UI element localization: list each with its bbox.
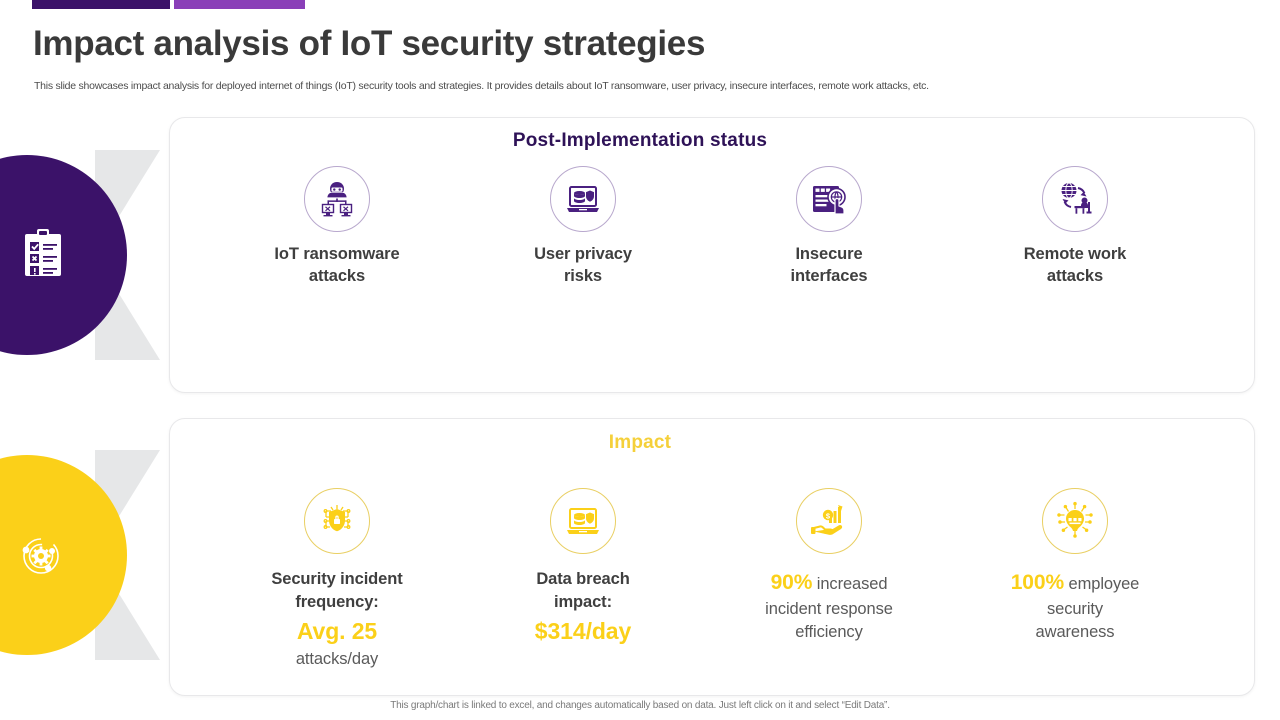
impact-item-response-efficiency: $ 90% increased incident response effici… <box>716 488 942 645</box>
gear-orbit-icon <box>15 530 67 582</box>
impact-heading: Impact <box>0 432 1280 454</box>
hacker-ransomware-icon <box>304 166 370 232</box>
impact-item-incident-frequency: Security incident frequency: Avg. 25 att… <box>224 488 450 671</box>
status-item-remote-work: Remote work attacks <box>965 166 1185 288</box>
clipboard-checklist-icon <box>17 228 69 280</box>
page-subtitle: This slide showcases impact analysis for… <box>34 80 1174 92</box>
impact-text: 100% employee security awareness <box>962 568 1188 645</box>
gauge-insecure-interfaces: 100% <box>719 300 939 384</box>
laptop-privacy-shield-icon <box>550 166 616 232</box>
accent-bar-secondary <box>174 0 305 9</box>
gauge-iot-ransomware: 75% <box>227 300 447 384</box>
data-breach-laptop-icon <box>550 488 616 554</box>
status-label: Remote work attacks <box>965 244 1185 288</box>
impact-text: Security incident frequency: Avg. 25 att… <box>224 568 450 671</box>
security-awareness-icon <box>1042 488 1108 554</box>
gauge-user-privacy: 95% <box>473 300 693 384</box>
shield-circuit-icon <box>304 488 370 554</box>
impact-text: Data breach impact: $314/day <box>470 568 696 648</box>
page-title: Impact analysis of IoT security strategi… <box>33 24 705 64</box>
post-implementation-heading: Post-Implementation status <box>0 130 1280 152</box>
status-item-iot-ransomware: IoT ransomware attacks <box>227 166 447 288</box>
status-label: User privacy risks <box>473 244 693 288</box>
impact-item-data-breach: Data breach impact: $314/day <box>470 488 696 648</box>
footer-note: This graph/chart is linked to excel, and… <box>0 700 1280 711</box>
impact-text: 90% increased incident response efficien… <box>716 568 942 645</box>
status-label: IoT ransomware attacks <box>227 244 447 288</box>
impact-item-security-awareness: 100% employee security awareness <box>962 488 1188 645</box>
accent-bar-primary <box>32 0 170 9</box>
remote-work-icon <box>1042 166 1108 232</box>
gauge-remote-work: XX% <box>965 300 1185 384</box>
status-item-user-privacy: User privacy risks <box>473 166 693 288</box>
slide-root: Impact analysis of IoT security strategi… <box>0 0 1280 720</box>
status-item-insecure-interfaces: Insecure interfaces <box>719 166 939 288</box>
hand-money-growth-icon: $ <box>796 488 862 554</box>
status-label: Insecure interfaces <box>719 244 939 288</box>
insecure-interface-icon <box>796 166 862 232</box>
